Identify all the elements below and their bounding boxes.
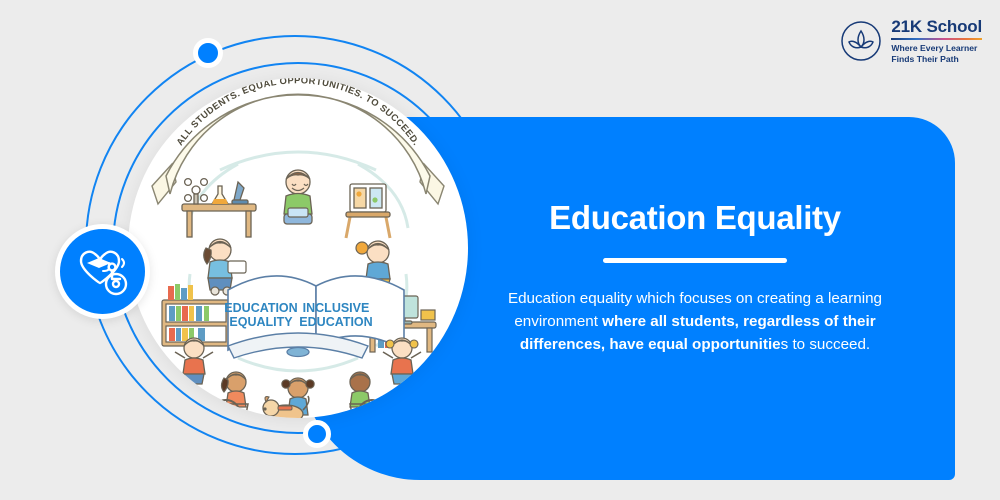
logo-gradient-rule <box>891 38 982 41</box>
brand-logo[interactable]: 21K School Where Every Learner Finds The… <box>840 18 982 65</box>
accessibility-badge <box>55 224 150 319</box>
girl-cheering <box>383 338 421 384</box>
logo-tagline-line2: Finds Their Path <box>891 54 958 64</box>
art-easel <box>346 184 390 238</box>
book-right-line1: INCLUSIVE <box>303 301 370 315</box>
panel-content: Education Equality Education equality wh… <box>460 200 930 357</box>
bookshelf <box>162 284 230 346</box>
boy-reading <box>284 170 312 224</box>
boy-in-wheelchair <box>345 372 386 418</box>
illustration-disc: ALL STUDENTS. EQUAL OPPORTUNITIES. TO SU… <box>128 78 468 418</box>
banner-text: ALL STUDENTS. EQUAL OPPORTUNITIES. TO SU… <box>174 78 423 147</box>
logo-name: 21K School <box>891 18 982 36</box>
page-title: Education Equality <box>460 200 930 236</box>
book-left-line1: EDUCATION <box>224 301 297 315</box>
accent-dot-top <box>193 38 223 68</box>
accent-dot-bottom <box>303 420 331 448</box>
logo-tagline-line1: Where Every Learner <box>891 43 977 53</box>
logo-tagline: Where Every Learner Finds Their Path <box>891 43 982 64</box>
book-left-line2: EQUALITY <box>229 315 293 329</box>
panel-description: Education equality which focuses on crea… <box>460 287 930 356</box>
lotus-in-circle-icon <box>840 20 882 62</box>
education-equality-illustration: ALL STUDENTS. EQUAL OPPORTUNITIES. TO SU… <box>128 78 468 418</box>
svg-text:ALL STUDENTS. EQUAL OPPORTUNIT: ALL STUDENTS. EQUAL OPPORTUNITIES. TO SU… <box>174 78 423 147</box>
heart-graduation-cap-wheelchair-icon <box>71 237 135 306</box>
book-right-line2: EDUCATION <box>299 315 372 329</box>
girl-in-wheelchair <box>212 372 253 418</box>
description-tail: s to succeed. <box>781 336 871 353</box>
science-table <box>182 179 256 237</box>
title-divider <box>603 258 787 263</box>
girl-with-guide-dog <box>263 378 314 418</box>
